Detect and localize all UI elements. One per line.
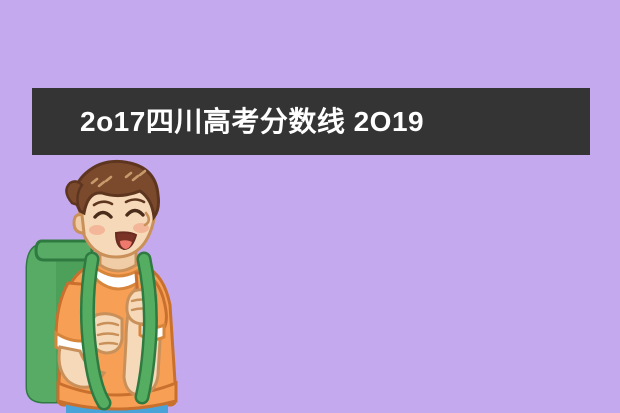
title-banner: 2o17四川高考分数线 2O19 xyxy=(32,88,590,155)
backpack-body-highlight xyxy=(27,245,56,402)
left-cheek-blush xyxy=(89,225,105,235)
student-with-backpack-illustration xyxy=(0,155,260,413)
page-title: 2o17四川高考分数线 2O19 xyxy=(80,108,424,136)
backpack-top-roll-icon xyxy=(36,241,92,260)
ear xyxy=(74,215,84,233)
thumbnail-canvas: 2o17四川高考分数线 2O19 xyxy=(0,0,620,413)
